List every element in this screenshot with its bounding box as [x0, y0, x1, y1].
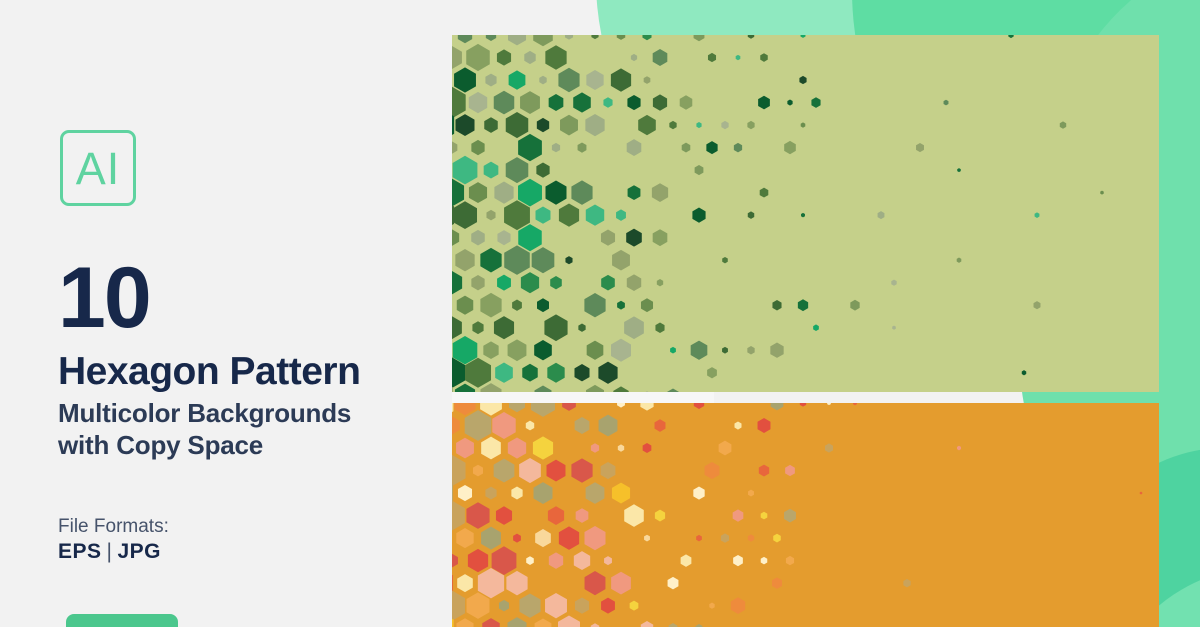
page-subtitle-line-1: Multicolor Backgrounds	[58, 398, 438, 430]
file-formats-label: File Formats:	[58, 516, 169, 538]
orange-hexagon-preview[interactable]	[452, 403, 1159, 627]
cta-button[interactable]	[66, 614, 178, 627]
ai-badge-label: AI	[76, 146, 121, 191]
poster-canvas: AI 10 Hexagon Pattern Multicolor Backgro…	[0, 0, 1200, 627]
file-format-eps: EPS	[58, 540, 102, 563]
page-title: Hexagon Pattern	[58, 352, 360, 393]
item-count: 10	[58, 258, 150, 340]
file-format-jpg: JPG	[118, 540, 162, 563]
file-format-separator: |	[102, 540, 118, 563]
green-hexagon-preview[interactable]	[452, 35, 1159, 392]
panel-gutter	[452, 392, 714, 403]
page-subtitle: Multicolor Backgrounds with Copy Space	[58, 398, 438, 461]
page-subtitle-line-2: with Copy Space	[58, 430, 438, 462]
file-formats-value: EPS|JPG	[58, 540, 161, 564]
ai-badge: AI	[60, 130, 136, 206]
info-column: AI 10 Hexagon Pattern Multicolor Backgro…	[0, 0, 452, 627]
